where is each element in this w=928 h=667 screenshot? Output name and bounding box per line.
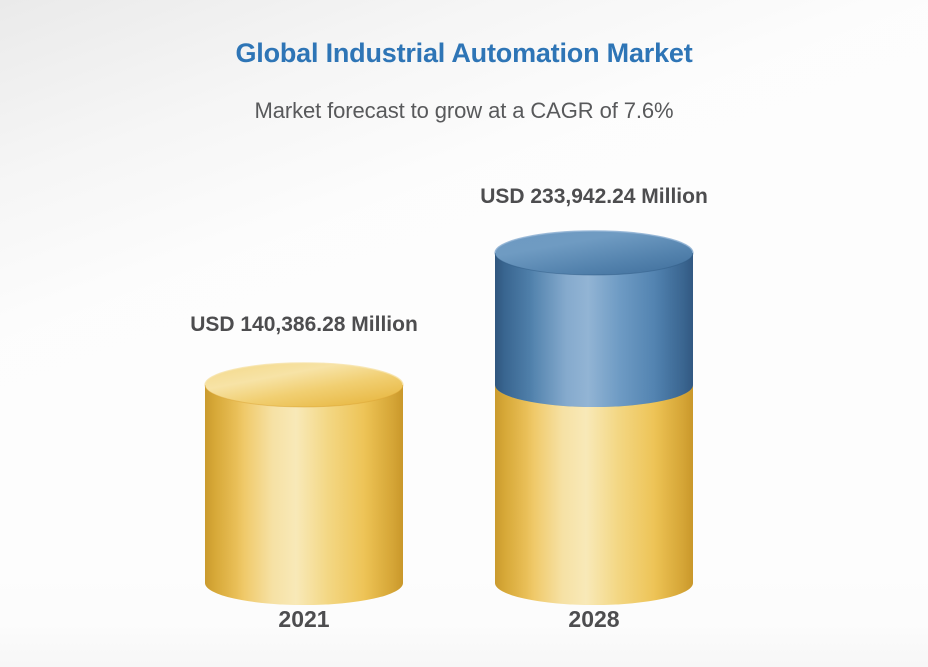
category-label-2021: 2021 bbox=[204, 606, 404, 633]
bar-2028[interactable] bbox=[490, 231, 698, 605]
bar-2021[interactable] bbox=[200, 363, 408, 605]
bar-2028-base-shading bbox=[495, 385, 693, 605]
category-label-2028: 2028 bbox=[494, 606, 694, 633]
bar-2028-top-shading bbox=[495, 253, 693, 407]
bar-2021-value-label: USD 140,386.28 Million bbox=[94, 313, 514, 337]
chart-canvas: Global Industrial Automation Market Mark… bbox=[0, 0, 928, 667]
bar-2028-value-label: USD 233,942.24 Million bbox=[384, 185, 804, 209]
bar-2021-body-shading bbox=[205, 385, 403, 605]
